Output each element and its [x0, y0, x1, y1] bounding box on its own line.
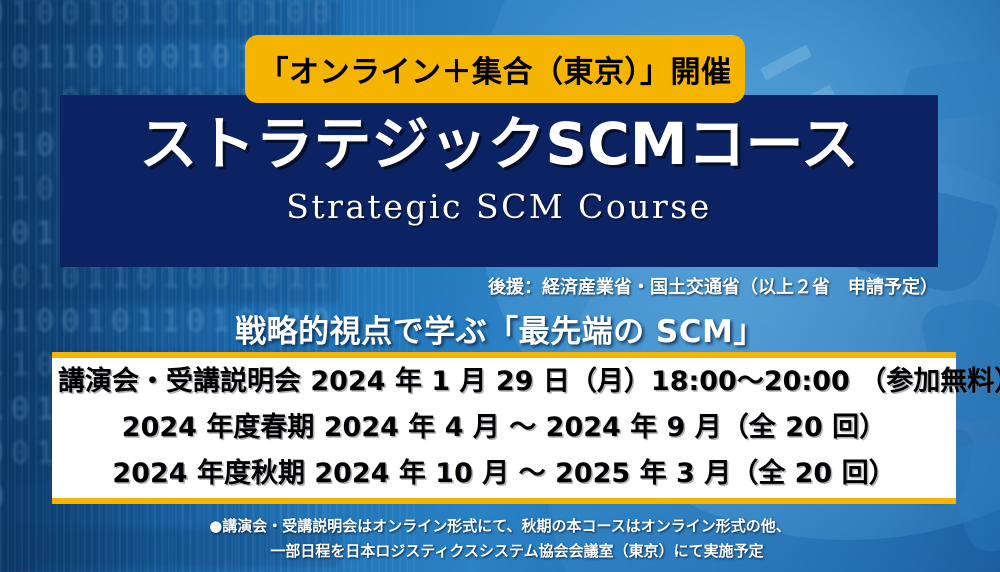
course-title: ストラテジックSCMコース: [139, 114, 858, 175]
schedule-table: 講演会・受講説明会 2024 年 1 月 29 日（月）18:00〜20:00 …: [52, 352, 956, 504]
footer-note-line-1: ●講演会・受講説明会はオンライン形式にて、秋期の本コースはオンライン形式の他、: [0, 514, 1000, 539]
footer-note-line-2: 一部日程を日本ロジスティクスシステム協会会議室（東京）にて実施予定: [0, 539, 1000, 564]
format-badge-label: 「オンライン＋集合（東京）」開催: [259, 47, 732, 91]
table-row: 2024 年度秋期 2024 年 10 月 〜 2025 年 3 月（全 20 …: [52, 451, 956, 497]
format-badge: 「オンライン＋集合（東京）」開催: [245, 35, 745, 103]
tagline: 戦略的視点で学ぶ「最先端の SCM」: [0, 306, 1000, 351]
table-row: 講演会・受講説明会 2024 年 1 月 29 日（月）18:00〜20:00 …: [52, 359, 956, 405]
course-title-english: Strategic SCM Course: [286, 187, 712, 226]
footer-notes: ●講演会・受講説明会はオンライン形式にて、秋期の本コースはオンライン形式の他、 …: [0, 514, 1000, 564]
title-banner: ストラテジックSCMコース Strategic SCM Course: [60, 95, 938, 267]
tagline-text: 戦略的視点で学ぶ「最先端の SCM」: [235, 314, 765, 350]
table-row: 2024 年度春期 2024 年 4 月 〜 2024 年 9 月（全 20 回…: [52, 405, 956, 451]
sponsor-credit: 後援：経済産業省・国土交通省（以上２省 申請予定）: [488, 273, 938, 299]
poster-root: 0100101011010010110100101101001011010010…: [0, 0, 1000, 572]
